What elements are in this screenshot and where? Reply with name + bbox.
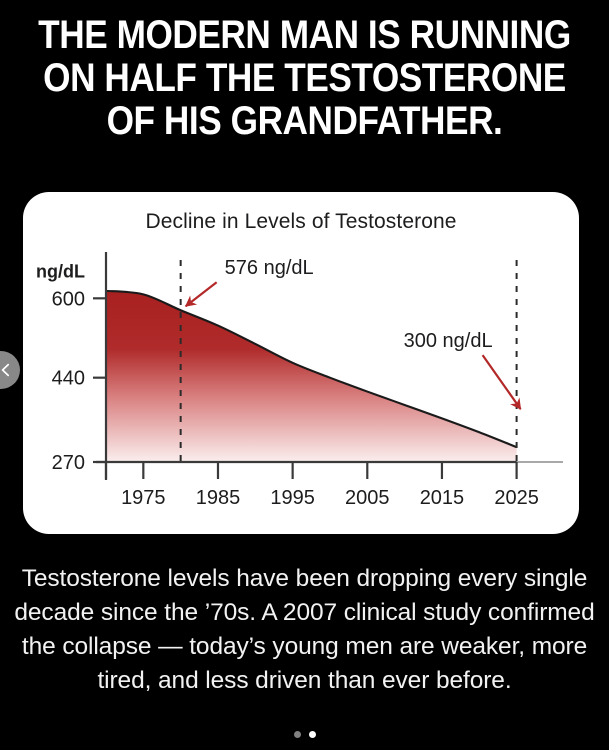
x-tick-label: 2025 <box>494 487 539 509</box>
annotation-arrow <box>186 282 217 306</box>
y-tick-label: 440 <box>52 368 85 390</box>
x-tick-label: 2015 <box>420 487 465 509</box>
previous-button[interactable] <box>0 351 20 389</box>
x-tick-label: 1975 <box>121 487 166 509</box>
area-fill <box>106 291 517 462</box>
chevron-left-icon <box>0 363 13 377</box>
y-axis-label: ng/dL <box>36 261 85 281</box>
annotation-arrow <box>483 355 521 409</box>
story-slide: THE MODERN MAN IS RUNNING ON HALF THE TE… <box>0 0 609 750</box>
x-tick-label: 1985 <box>196 487 241 509</box>
x-tick-label: 2005 <box>345 487 390 509</box>
annotation-label: 300 ng/dL <box>404 330 493 352</box>
x-tick-label: 1995 <box>270 487 315 509</box>
caption-text: Testosterone levels have been dropping e… <box>12 562 597 698</box>
chart-card: Decline in Levels of Testosterone 270440… <box>23 192 579 534</box>
y-tick-label: 270 <box>52 452 85 474</box>
page-dot[interactable] <box>294 731 301 738</box>
page-dot[interactable] <box>309 731 316 738</box>
page-indicator[interactable] <box>0 731 609 738</box>
headline: THE MODERN MAN IS RUNNING ON HALF THE TE… <box>37 14 573 143</box>
testosterone-decline-chart: 270440600ng/dL19751985199520052015202557… <box>23 192 579 534</box>
y-tick-label: 600 <box>52 288 85 310</box>
annotation-label: 576 ng/dL <box>225 257 314 279</box>
